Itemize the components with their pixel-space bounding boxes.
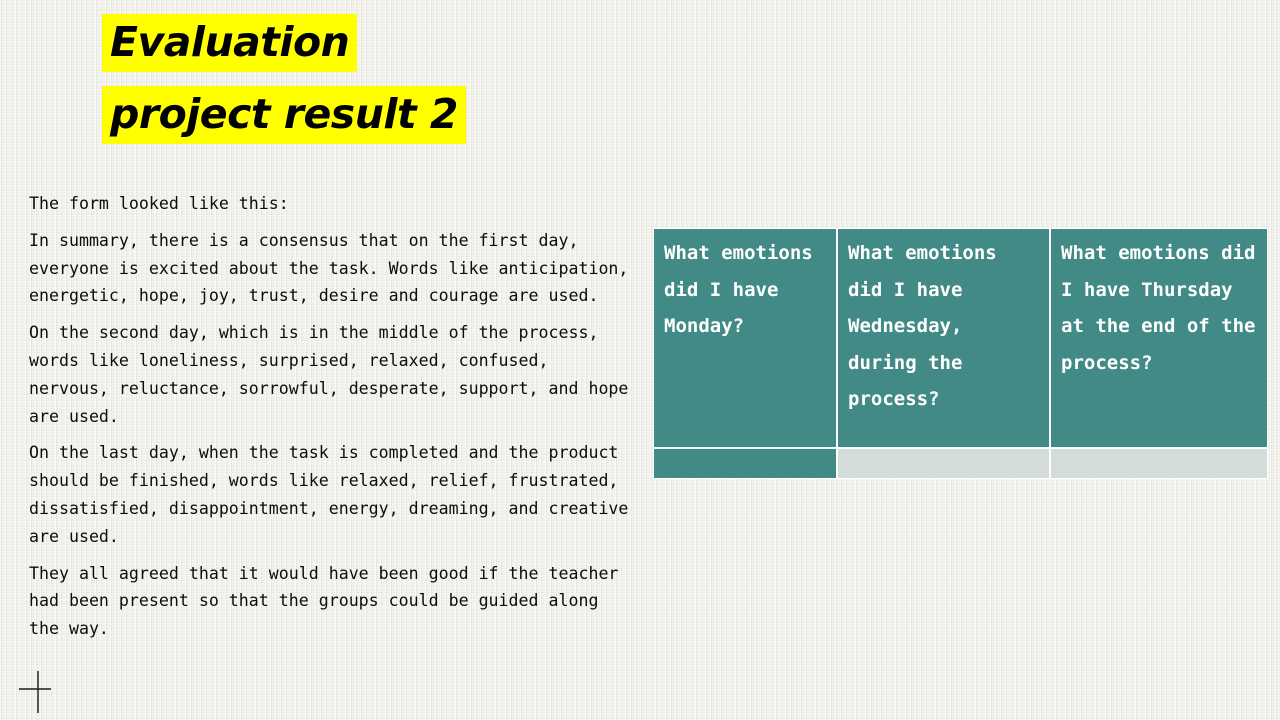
table-header-cell-monday: What emotions did I have Monday?: [653, 228, 837, 448]
title-line-1: Evaluation: [102, 14, 357, 72]
table-answer-cell-wednesday[interactable]: [837, 448, 1050, 479]
table-answer-text-monday: [654, 449, 836, 454]
table-header-label-thursday: What emotions did I have Thursday at the…: [1051, 229, 1267, 381]
page-title: Evaluation project result 2: [102, 14, 622, 144]
body-paragraph-intro: The form looked like this:: [29, 190, 629, 218]
body-paragraph-day-three: On the last day, when the task is comple…: [29, 439, 629, 550]
table-answer-row: [653, 448, 1268, 479]
table-header-cell-wednesday: What emotions did I have Wednesday, duri…: [837, 228, 1050, 448]
table-answer-text-wednesday: [838, 449, 1049, 454]
title-line-2: project result 2: [102, 86, 466, 144]
body-paragraph-conclusion: They all agreed that it would have been …: [29, 560, 629, 643]
table-header-row: What emotions did I have Monday? What em…: [653, 228, 1268, 448]
body-paragraph-day-two: On the second day, which is in the middl…: [29, 319, 629, 430]
emotions-question-table: What emotions did I have Monday? What em…: [653, 228, 1268, 479]
crosshair-registration-mark-icon: [19, 671, 59, 713]
table-header-label-wednesday: What emotions did I have Wednesday, duri…: [838, 229, 1049, 418]
table-header-label-monday: What emotions did I have Monday?: [654, 229, 836, 345]
table-answer-cell-thursday[interactable]: [1050, 448, 1268, 479]
body-paragraph-day-one: In summary, there is a consensus that on…: [29, 227, 629, 310]
table-answer-cell-monday[interactable]: [653, 448, 837, 479]
table-header-cell-thursday: What emotions did I have Thursday at the…: [1050, 228, 1268, 448]
table-answer-text-thursday: [1051, 449, 1267, 454]
body-text-column: The form looked like this: In summary, t…: [29, 190, 629, 652]
slide-canvas: Evaluation project result 2 The form loo…: [0, 0, 1280, 720]
